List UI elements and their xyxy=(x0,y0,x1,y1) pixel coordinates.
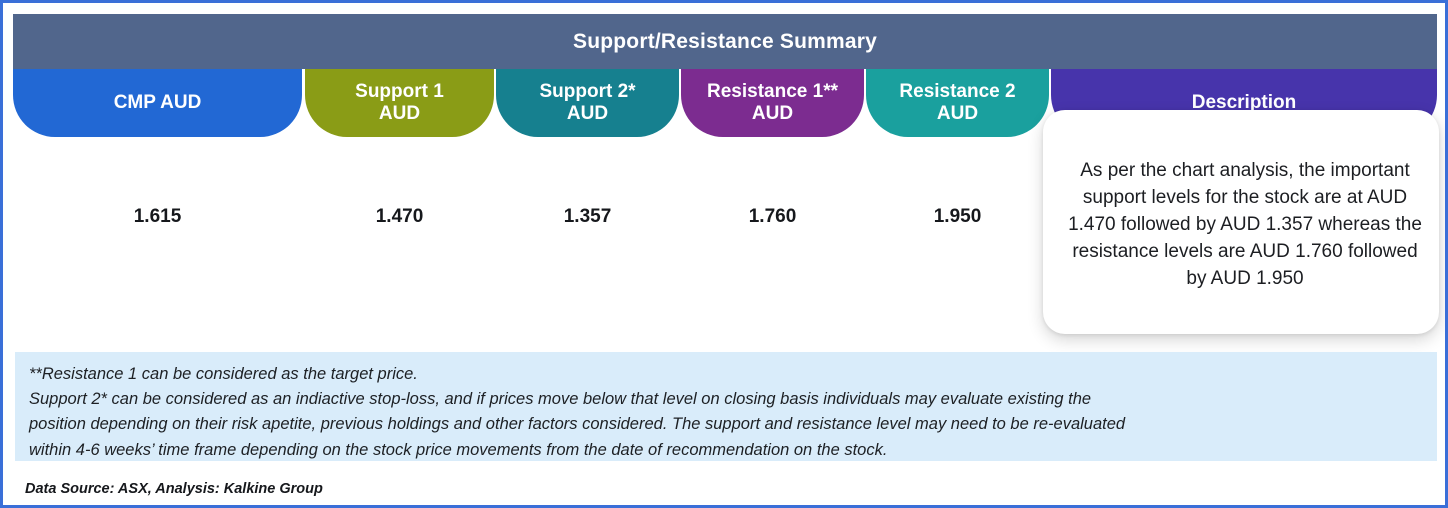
description-text: As per the chart analysis, the important… xyxy=(1065,158,1425,293)
footnote-line-4: within 4-6 weeks’ time frame depending o… xyxy=(29,438,1423,463)
data-source-label: Data Source: ASX, Analysis: Kalkine Grou… xyxy=(25,481,323,497)
support-resistance-summary-card: Support/Resistance Summary CMP AUD Suppo… xyxy=(0,0,1448,508)
column-header-label: Support 1 AUD xyxy=(355,81,444,125)
column-header-support-1: Support 1 AUD xyxy=(305,69,494,137)
footnote-line-2: Support 2* can be considered as an india… xyxy=(29,387,1423,412)
table-title: Support/Resistance Summary xyxy=(13,14,1437,69)
value-cmp-aud: 1.615 xyxy=(13,206,302,228)
column-header-resistance-2: Resistance 2 AUD xyxy=(866,69,1049,137)
column-header-label: Support 2* AUD xyxy=(539,81,635,125)
footnote-box: **Resistance 1 can be considered as the … xyxy=(15,352,1437,461)
value-resistance-1: 1.760 xyxy=(681,206,864,228)
footnote-line-1: **Resistance 1 can be considered as the … xyxy=(29,362,1423,387)
summary-table: Support/Resistance Summary CMP AUD Suppo… xyxy=(13,14,1437,339)
description-card: As per the chart analysis, the important… xyxy=(1043,110,1439,334)
value-support-1: 1.470 xyxy=(305,206,494,228)
value-resistance-2: 1.950 xyxy=(866,206,1049,228)
column-header-cmp-aud: CMP AUD xyxy=(13,69,302,137)
footnote-line-3: position depending on their risk apetite… xyxy=(29,412,1423,437)
column-header-label: Resistance 2 AUD xyxy=(899,81,1015,125)
value-support-2: 1.357 xyxy=(496,206,679,228)
column-header-label: Resistance 1** AUD xyxy=(707,81,838,125)
column-header-label: CMP AUD xyxy=(114,92,202,114)
column-header-resistance-1: Resistance 1** AUD xyxy=(681,69,864,137)
table-title-bar: Support/Resistance Summary xyxy=(13,14,1437,69)
column-header-support-2: Support 2* AUD xyxy=(496,69,679,137)
